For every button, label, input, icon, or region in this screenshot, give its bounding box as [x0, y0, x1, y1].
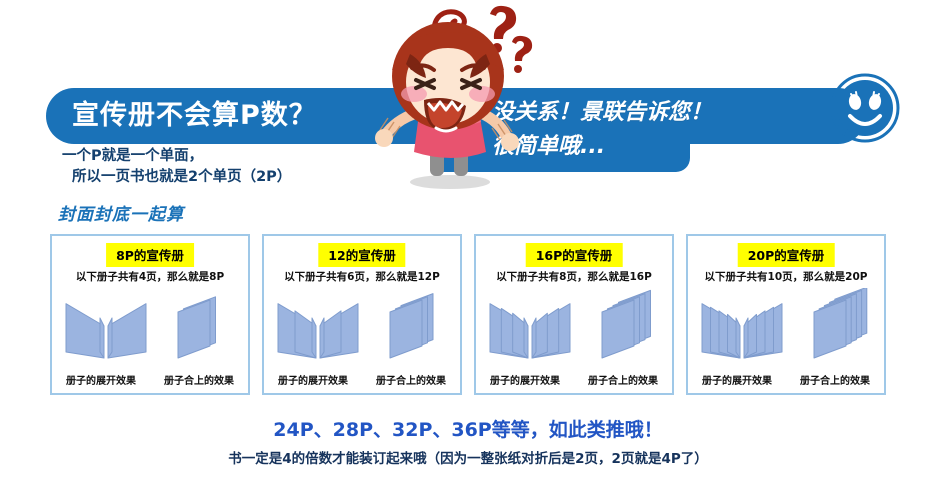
caption-closed: 册子合上的效果	[800, 372, 870, 387]
closed-booklet-icon	[592, 288, 664, 366]
caption-closed: 册子合上的效果	[376, 372, 446, 387]
card-title: 12的宣传册	[318, 243, 405, 267]
card-illustrations	[264, 284, 460, 366]
card-illustrations	[52, 284, 248, 366]
card-illustrations	[476, 284, 672, 366]
card-description: 以下册子共有4页，那么就是8P	[52, 269, 248, 284]
footer-note: 书一定是4的倍数才能装订起来哦（因为一整张纸对折后是2页，2页就是4P了）	[0, 447, 936, 467]
caption-open: 册子的展开效果	[278, 372, 348, 387]
booklet-card[interactable]: 20P的宣传册 以下册子共有10页，那么就是20P 册子的展开效果 册子合上的效…	[686, 234, 886, 395]
card-captions: 册子的展开效果 册子合上的效果	[476, 372, 672, 387]
caption-closed: 册子合上的效果	[588, 372, 658, 387]
caption-open: 册子的展开效果	[490, 372, 560, 387]
section-title: 封面封底一起算	[58, 200, 184, 225]
card-title: 20P的宣传册	[738, 243, 835, 267]
open-booklet-icon	[696, 288, 788, 366]
card-illustrations	[688, 284, 884, 366]
booklet-card[interactable]: 16P的宣传册 以下册子共有8页，那么就是16P 册子的展开效果 册子合上的效果	[474, 234, 674, 395]
footer-headline: 24P、28P、32P、36P等等，如此类推哦！	[0, 415, 936, 442]
open-booklet-icon	[272, 288, 364, 366]
card-title: 16P的宣传册	[526, 243, 623, 267]
card-description: 以下册子共有8页，那么就是16P	[476, 269, 672, 284]
booklet-card[interactable]: 8P的宣传册 以下册子共有4页，那么就是8P 册子的展开效果 册子合上的效果	[50, 234, 250, 395]
infographic-root: 宣传册不会算P数？ 没关系！景联告诉您！ 很简单哦...	[0, 0, 936, 484]
booklet-cards: 8P的宣传册 以下册子共有4页，那么就是8P 册子的展开效果 册子合上的效果 1…	[50, 234, 886, 395]
card-captions: 册子的展开效果 册子合上的效果	[264, 372, 460, 387]
note-line1: 一个P就是一个单面，	[62, 146, 392, 167]
caption-closed: 册子合上的效果	[164, 372, 234, 387]
open-booklet-icon	[484, 288, 576, 366]
headline-left: 宣传册不会算P数？	[72, 92, 372, 140]
card-captions: 册子的展开效果 册子合上的效果	[52, 372, 248, 387]
note-line2: 所以一页书也就是2个单页（2P）	[62, 167, 392, 188]
card-description: 以下册子共有6页，那么就是12P	[264, 269, 460, 284]
closed-booklet-icon	[804, 288, 876, 366]
open-booklet-icon	[60, 288, 152, 366]
booklet-card[interactable]: 12的宣传册 以下册子共有6页，那么就是12P 册子的展开效果 册子合上的效果	[262, 234, 462, 395]
headline-right: 没关系！景联告诉您！ 很简单哦...	[492, 96, 822, 164]
card-description: 以下册子共有10页，那么就是20P	[688, 269, 884, 284]
headline-right-line2: 很简单哦...	[492, 130, 822, 164]
closed-booklet-icon	[380, 288, 452, 366]
smiley-face-icon	[829, 72, 901, 144]
p-definition-note: 一个P就是一个单面， 所以一页书也就是2个单页（2P）	[62, 146, 392, 188]
closed-booklet-icon	[168, 288, 240, 366]
caption-open: 册子的展开效果	[702, 372, 772, 387]
card-captions: 册子的展开效果 册子合上的效果	[688, 372, 884, 387]
caption-open: 册子的展开效果	[66, 372, 136, 387]
card-title: 8P的宣传册	[106, 243, 194, 267]
